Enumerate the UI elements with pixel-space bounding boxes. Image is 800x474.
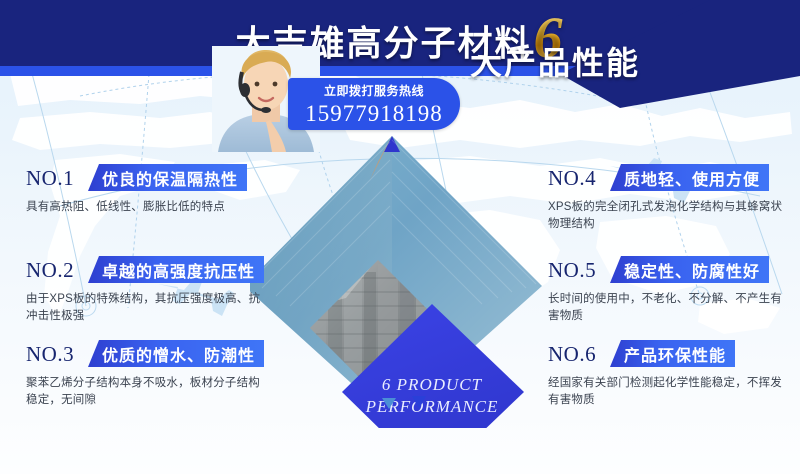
feature-2-description: 由于XPS板的特殊结构，其抗压强度极高、抗冲击性极强 (26, 291, 261, 325)
feature-item-2: NO.2 卓越的高强度抗压性 由于XPS板的特殊结构，其抗压强度极高、抗冲击性极… (26, 256, 272, 325)
feature-1-head: NO.1 优良的保温隔热性 (26, 164, 272, 192)
feature-5-head: NO.5 稳定性、防腐性好 (548, 256, 794, 284)
feature-3-number: NO.3 (26, 341, 74, 367)
hotline-label: 立即拨打服务热线 (288, 78, 460, 101)
feature-item-3: NO.3 优质的憎水、防潮性 聚苯乙烯分子结构本身不吸水，板材分子结构稳定，无间… (26, 340, 272, 409)
headset-earpiece (240, 83, 250, 97)
feature-6-number: NO.6 (548, 341, 596, 367)
hotline-number: 15977918198 (288, 101, 460, 127)
promo-banner-page: 6 PRODUCT PERFORMANCE 大吉雄高分子材料6 大产品性能 (0, 0, 800, 474)
title-sub-text: 大产品性能 (470, 38, 640, 84)
feature-1-number: NO.1 (26, 165, 74, 191)
feature-item-5: NO.5 稳定性、防腐性好 长时间的使用中，不老化、不分解、不产生有害物质 (548, 256, 794, 325)
feature-item-6: NO.6 产品环保性能 经国家有关部门检测起化学性能稳定，不挥发有害物质 (548, 340, 794, 409)
feature-3-tag: 优质的憎水、防潮性 (88, 340, 264, 367)
hotline-badge[interactable]: 立即拨打服务热线 15977918198 (288, 78, 460, 130)
feature-item-1: NO.1 优良的保温隔热性 具有高热阻、低线性、膨胀比低的特点 (26, 164, 272, 216)
decor-triangle-right (412, 396, 426, 409)
feature-4-number: NO.4 (548, 165, 596, 191)
feature-6-tag: 产品环保性能 (610, 340, 735, 367)
feature-4-description: XPS板的完全闭孔式发泡化学结构与其蜂窝状物理结构 (548, 199, 783, 233)
feature-2-number: NO.2 (26, 257, 74, 283)
feature-6-head: NO.6 产品环保性能 (548, 340, 794, 368)
feature-2-head: NO.2 卓越的高强度抗压性 (26, 256, 272, 284)
feature-3-description: 聚苯乙烯分子结构本身不吸水，板材分子结构稳定，无间隙 (26, 375, 261, 409)
product-artwork: 6 PRODUCT PERFORMANCE (250, 128, 570, 428)
feature-2-tag: 卓越的高强度抗压性 (88, 256, 264, 283)
feature-1-description: 具有高热阻、低线性、膨胀比低的特点 (26, 199, 261, 216)
feature-5-tag: 稳定性、防腐性好 (610, 256, 769, 283)
decor-triangle-left (382, 398, 396, 409)
feature-3-head: NO.3 优质的憎水、防潮性 (26, 340, 272, 368)
feature-4-head: NO.4 质地轻、使用方便 (548, 164, 794, 192)
feature-4-tag: 质地轻、使用方便 (610, 164, 769, 191)
feature-1-tag: 优良的保温隔热性 (88, 164, 247, 191)
feature-6-description: 经国家有关部门检测起化学性能稳定，不挥发有害物质 (548, 375, 783, 409)
feature-5-number: NO.5 (548, 257, 596, 283)
agent-eye-right (273, 82, 278, 87)
artwork-caption-line1: 6 PRODUCT (382, 375, 483, 394)
feature-item-4: NO.4 质地轻、使用方便 XPS板的完全闭孔式发泡化学结构与其蜂窝状物理结构 (548, 164, 794, 233)
artwork-svg: 6 PRODUCT PERFORMANCE (250, 128, 570, 428)
headset-mic (261, 107, 271, 113)
feature-5-description: 长时间的使用中，不老化、不分解、不产生有害物质 (548, 291, 783, 325)
agent-eye-left (255, 82, 260, 87)
